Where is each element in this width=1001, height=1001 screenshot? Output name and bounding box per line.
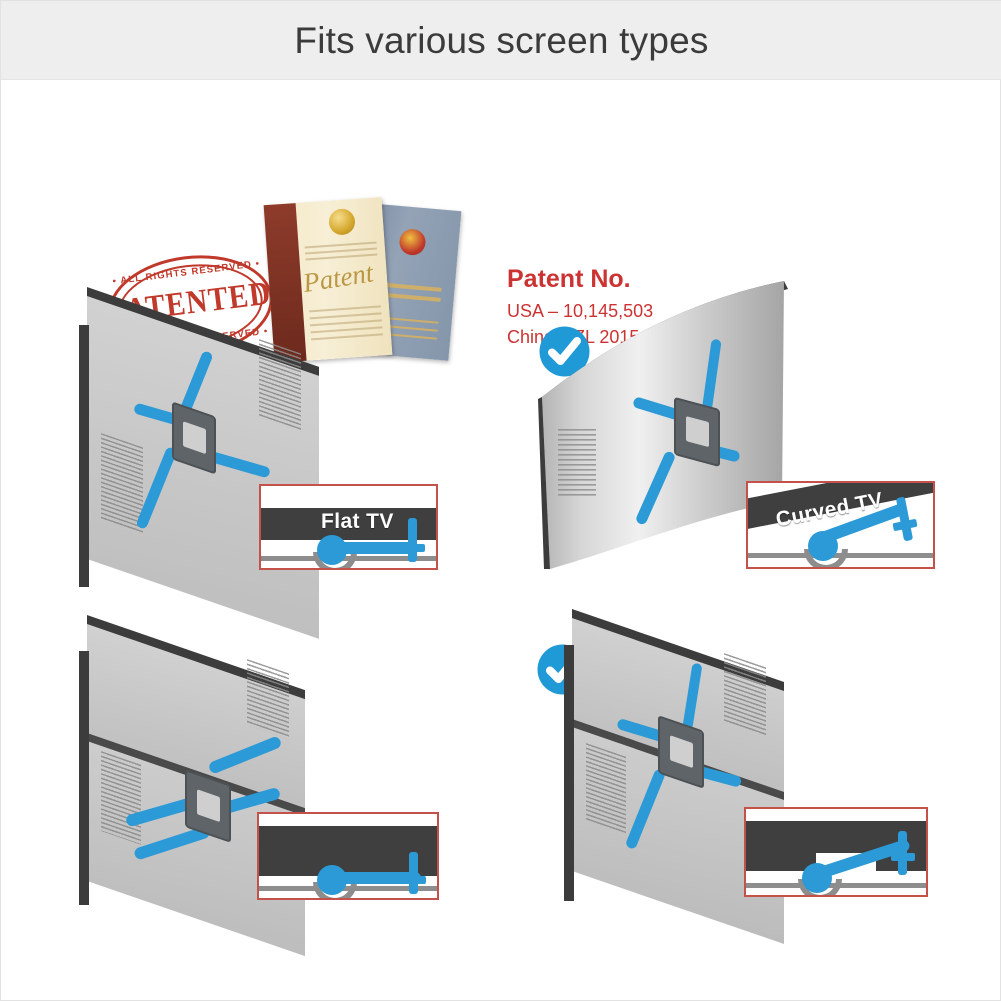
mount-nut bbox=[402, 876, 426, 884]
inset-thick-back-tv bbox=[257, 812, 439, 900]
tv-vent bbox=[247, 659, 289, 739]
bracket-arm-top-right bbox=[208, 735, 283, 775]
inset-flat-tv: Flat TV bbox=[259, 484, 438, 570]
panel-flat-tv: Flat TV bbox=[79, 281, 459, 591]
page-header: Fits various screen types bbox=[1, 1, 1001, 80]
inset-label: Flat TV bbox=[321, 510, 394, 534]
patent-section: • ALL RIGHTS RESERVED • PATENTED • ALL R… bbox=[1, 96, 1001, 276]
bracket-cutout bbox=[670, 735, 693, 768]
mount-pivot bbox=[808, 531, 838, 561]
bracket-cutout bbox=[183, 421, 206, 454]
page-title: Fits various screen types bbox=[294, 22, 708, 59]
tv-vent bbox=[101, 433, 143, 533]
vesa-bracket bbox=[139, 353, 269, 513]
mount-pivot bbox=[317, 865, 347, 895]
mount-post bbox=[409, 852, 418, 894]
inset-stepped-back-tv bbox=[744, 807, 928, 897]
gold-seal-icon bbox=[328, 208, 356, 236]
bracket-cutout bbox=[197, 789, 220, 822]
tv-vent bbox=[101, 751, 141, 845]
panel-thick-back-tv bbox=[79, 609, 459, 917]
tv-side-edge bbox=[79, 325, 89, 587]
tv-vent bbox=[586, 743, 626, 835]
bracket-center-plate bbox=[658, 715, 704, 789]
mount-pivot bbox=[317, 535, 347, 565]
tv-side-edge bbox=[79, 651, 89, 905]
vesa-bracket bbox=[624, 673, 754, 833]
panel-curved-tv: Curved TV bbox=[506, 269, 946, 589]
inset-curved-tv: Curved TV bbox=[746, 481, 935, 569]
bracket-center-plate bbox=[172, 401, 216, 474]
bracket-center-plate bbox=[674, 397, 720, 467]
bracket-cutout bbox=[686, 416, 709, 447]
mount-nut bbox=[891, 853, 915, 861]
mount-post bbox=[408, 518, 417, 562]
tv-side-edge bbox=[564, 645, 574, 901]
mount-nut bbox=[401, 544, 425, 552]
panel-stepped-back-tv bbox=[506, 601, 946, 917]
mount-pivot bbox=[802, 863, 832, 893]
infographic-page: Fits various screen types • ALL RIGHTS R… bbox=[0, 0, 1001, 1001]
china-emblem-icon bbox=[398, 228, 426, 256]
